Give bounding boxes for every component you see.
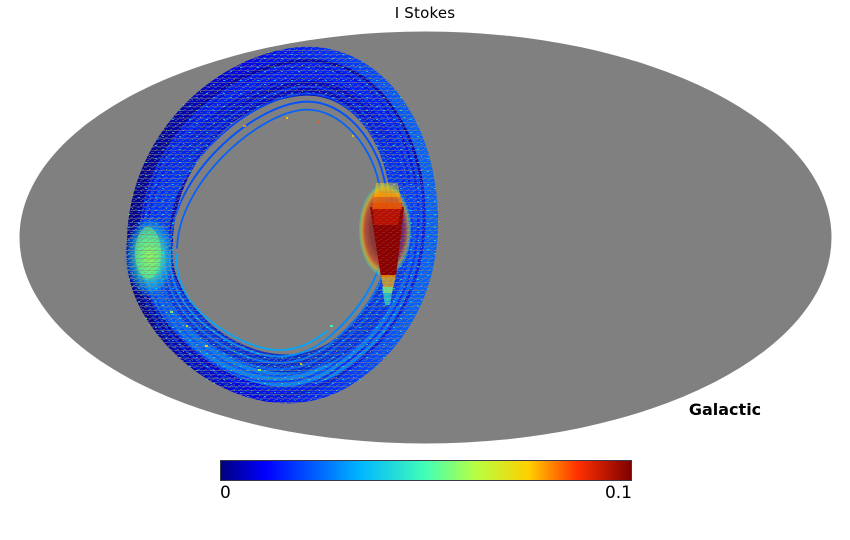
sky-map-svg bbox=[0, 25, 850, 450]
colorbar: 0 0.1 bbox=[0, 455, 850, 505]
page-title: I Stokes bbox=[0, 4, 850, 22]
sky-map-mollweide bbox=[0, 25, 850, 450]
colorbar-min-label: 0 bbox=[220, 483, 231, 503]
secondary-hotspot bbox=[124, 215, 176, 299]
coordinate-system-label: Galactic bbox=[630, 400, 820, 419]
colorbar-gradient bbox=[220, 460, 632, 481]
colorbar-max-label: 0.1 bbox=[566, 483, 632, 503]
figure-canvas: I Stokes bbox=[0, 0, 850, 540]
